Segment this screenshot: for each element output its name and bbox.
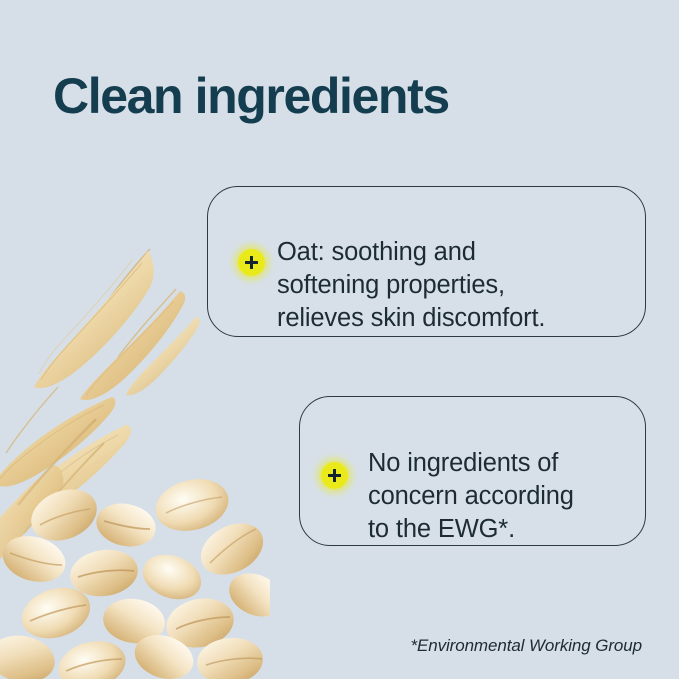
footnote: *Environmental Working Group bbox=[410, 636, 642, 656]
product-feature-panel: Clean ingredients Oat: soothing and soft… bbox=[0, 0, 679, 679]
plus-icon bbox=[321, 462, 348, 489]
feature-card-text: Oat: soothing and softening properties, … bbox=[277, 236, 637, 335]
feature-card-ewg-claim: No ingredients of concern according to t… bbox=[299, 396, 646, 546]
feature-card-text: No ingredients of concern according to t… bbox=[368, 447, 640, 546]
feature-card-oat-benefit: Oat: soothing and softening properties, … bbox=[207, 186, 646, 337]
page-title: Clean ingredients bbox=[53, 67, 449, 125]
plus-icon bbox=[238, 249, 265, 276]
